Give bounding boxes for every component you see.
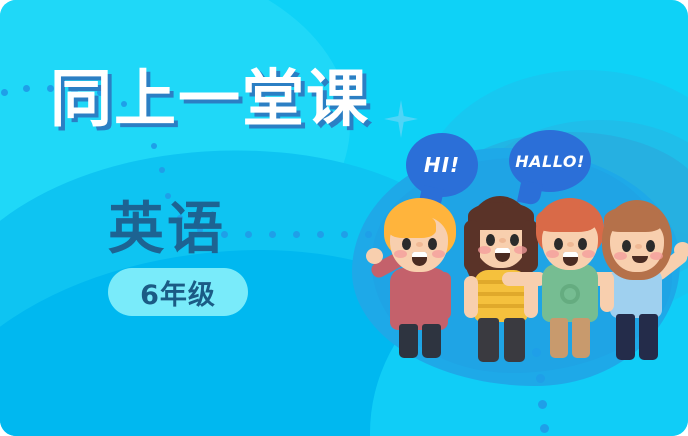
kid3-fringe bbox=[536, 206, 596, 232]
sparkle-star-icon bbox=[384, 100, 418, 138]
path-dot bbox=[540, 424, 549, 433]
kid2-left-leg bbox=[478, 318, 499, 362]
kid4-right-eye bbox=[646, 240, 655, 252]
kid2-left-blush bbox=[478, 246, 491, 254]
kid4-nose bbox=[635, 244, 642, 249]
kid2-shirt-stripe-2 bbox=[474, 292, 528, 296]
kid1-right-eye bbox=[428, 238, 437, 250]
kid1-fringe bbox=[388, 212, 436, 238]
kid1-right-blush bbox=[432, 250, 445, 258]
path-dot bbox=[341, 231, 348, 238]
kid3-left-eye bbox=[554, 238, 563, 250]
kid4-fringe bbox=[604, 206, 662, 232]
page-title: 同上一堂课 bbox=[50, 48, 370, 138]
character-light-brown-hair-kid-waving bbox=[592, 198, 688, 360]
kid4-left-eye bbox=[622, 240, 631, 252]
kid1-nose bbox=[416, 242, 423, 247]
path-dot bbox=[151, 143, 157, 149]
subject-label: 英语 bbox=[108, 184, 226, 265]
kid2-hair-left-strand bbox=[464, 220, 480, 272]
kid1-left-blush bbox=[394, 250, 407, 258]
path-dot bbox=[245, 231, 252, 238]
kid3-right-eye bbox=[578, 238, 587, 250]
kid1-right-arm bbox=[436, 272, 451, 320]
speech-bubble-hallo: HALLO! bbox=[509, 130, 591, 192]
path-dot bbox=[293, 231, 300, 238]
kid1-waving-hand bbox=[366, 248, 383, 264]
path-dot bbox=[23, 85, 30, 92]
path-dot bbox=[538, 400, 547, 409]
kid3-left-blush bbox=[546, 250, 559, 258]
kid1-right-leg bbox=[422, 324, 441, 358]
path-dot bbox=[1, 89, 8, 96]
kid4-left-arm bbox=[600, 272, 614, 312]
grade-badge-label: 6年级 bbox=[140, 273, 216, 312]
kid3-left-leg bbox=[550, 318, 568, 358]
kid2-left-arm bbox=[464, 276, 478, 318]
kid3-shirt-logo bbox=[560, 284, 580, 304]
kid2-nose bbox=[499, 238, 506, 243]
kid4-left-leg bbox=[616, 314, 635, 360]
kid2-shirt-stripe-3 bbox=[474, 304, 528, 308]
kid1-left-leg bbox=[399, 324, 418, 358]
kid2-right-eye bbox=[510, 234, 519, 246]
kid2-right-leg bbox=[504, 318, 525, 362]
path-dot bbox=[317, 231, 324, 238]
speech-bubble-hallo-text: HALLO! bbox=[515, 152, 585, 171]
kid3-right-leg bbox=[572, 318, 590, 358]
path-dot bbox=[269, 231, 276, 238]
kid3-left-arm bbox=[502, 272, 546, 286]
grade-badge: 6年级 bbox=[108, 268, 248, 316]
course-banner-card: 同上一堂课 英语 6年级 HI! HALLO! bbox=[0, 0, 688, 436]
kid4-waving-hand bbox=[674, 242, 688, 258]
speech-bubble-hi-text: HI! bbox=[424, 153, 460, 177]
path-dot bbox=[536, 374, 545, 383]
kid4-right-blush bbox=[650, 252, 663, 260]
kid2-left-eye bbox=[486, 234, 495, 246]
speech-bubble-hi: HI! bbox=[406, 133, 478, 197]
kid4-right-leg bbox=[639, 314, 658, 360]
kid3-nose bbox=[567, 242, 574, 247]
kid4-left-blush bbox=[614, 252, 627, 260]
path-dot bbox=[159, 167, 165, 173]
kid1-left-eye bbox=[402, 238, 411, 250]
